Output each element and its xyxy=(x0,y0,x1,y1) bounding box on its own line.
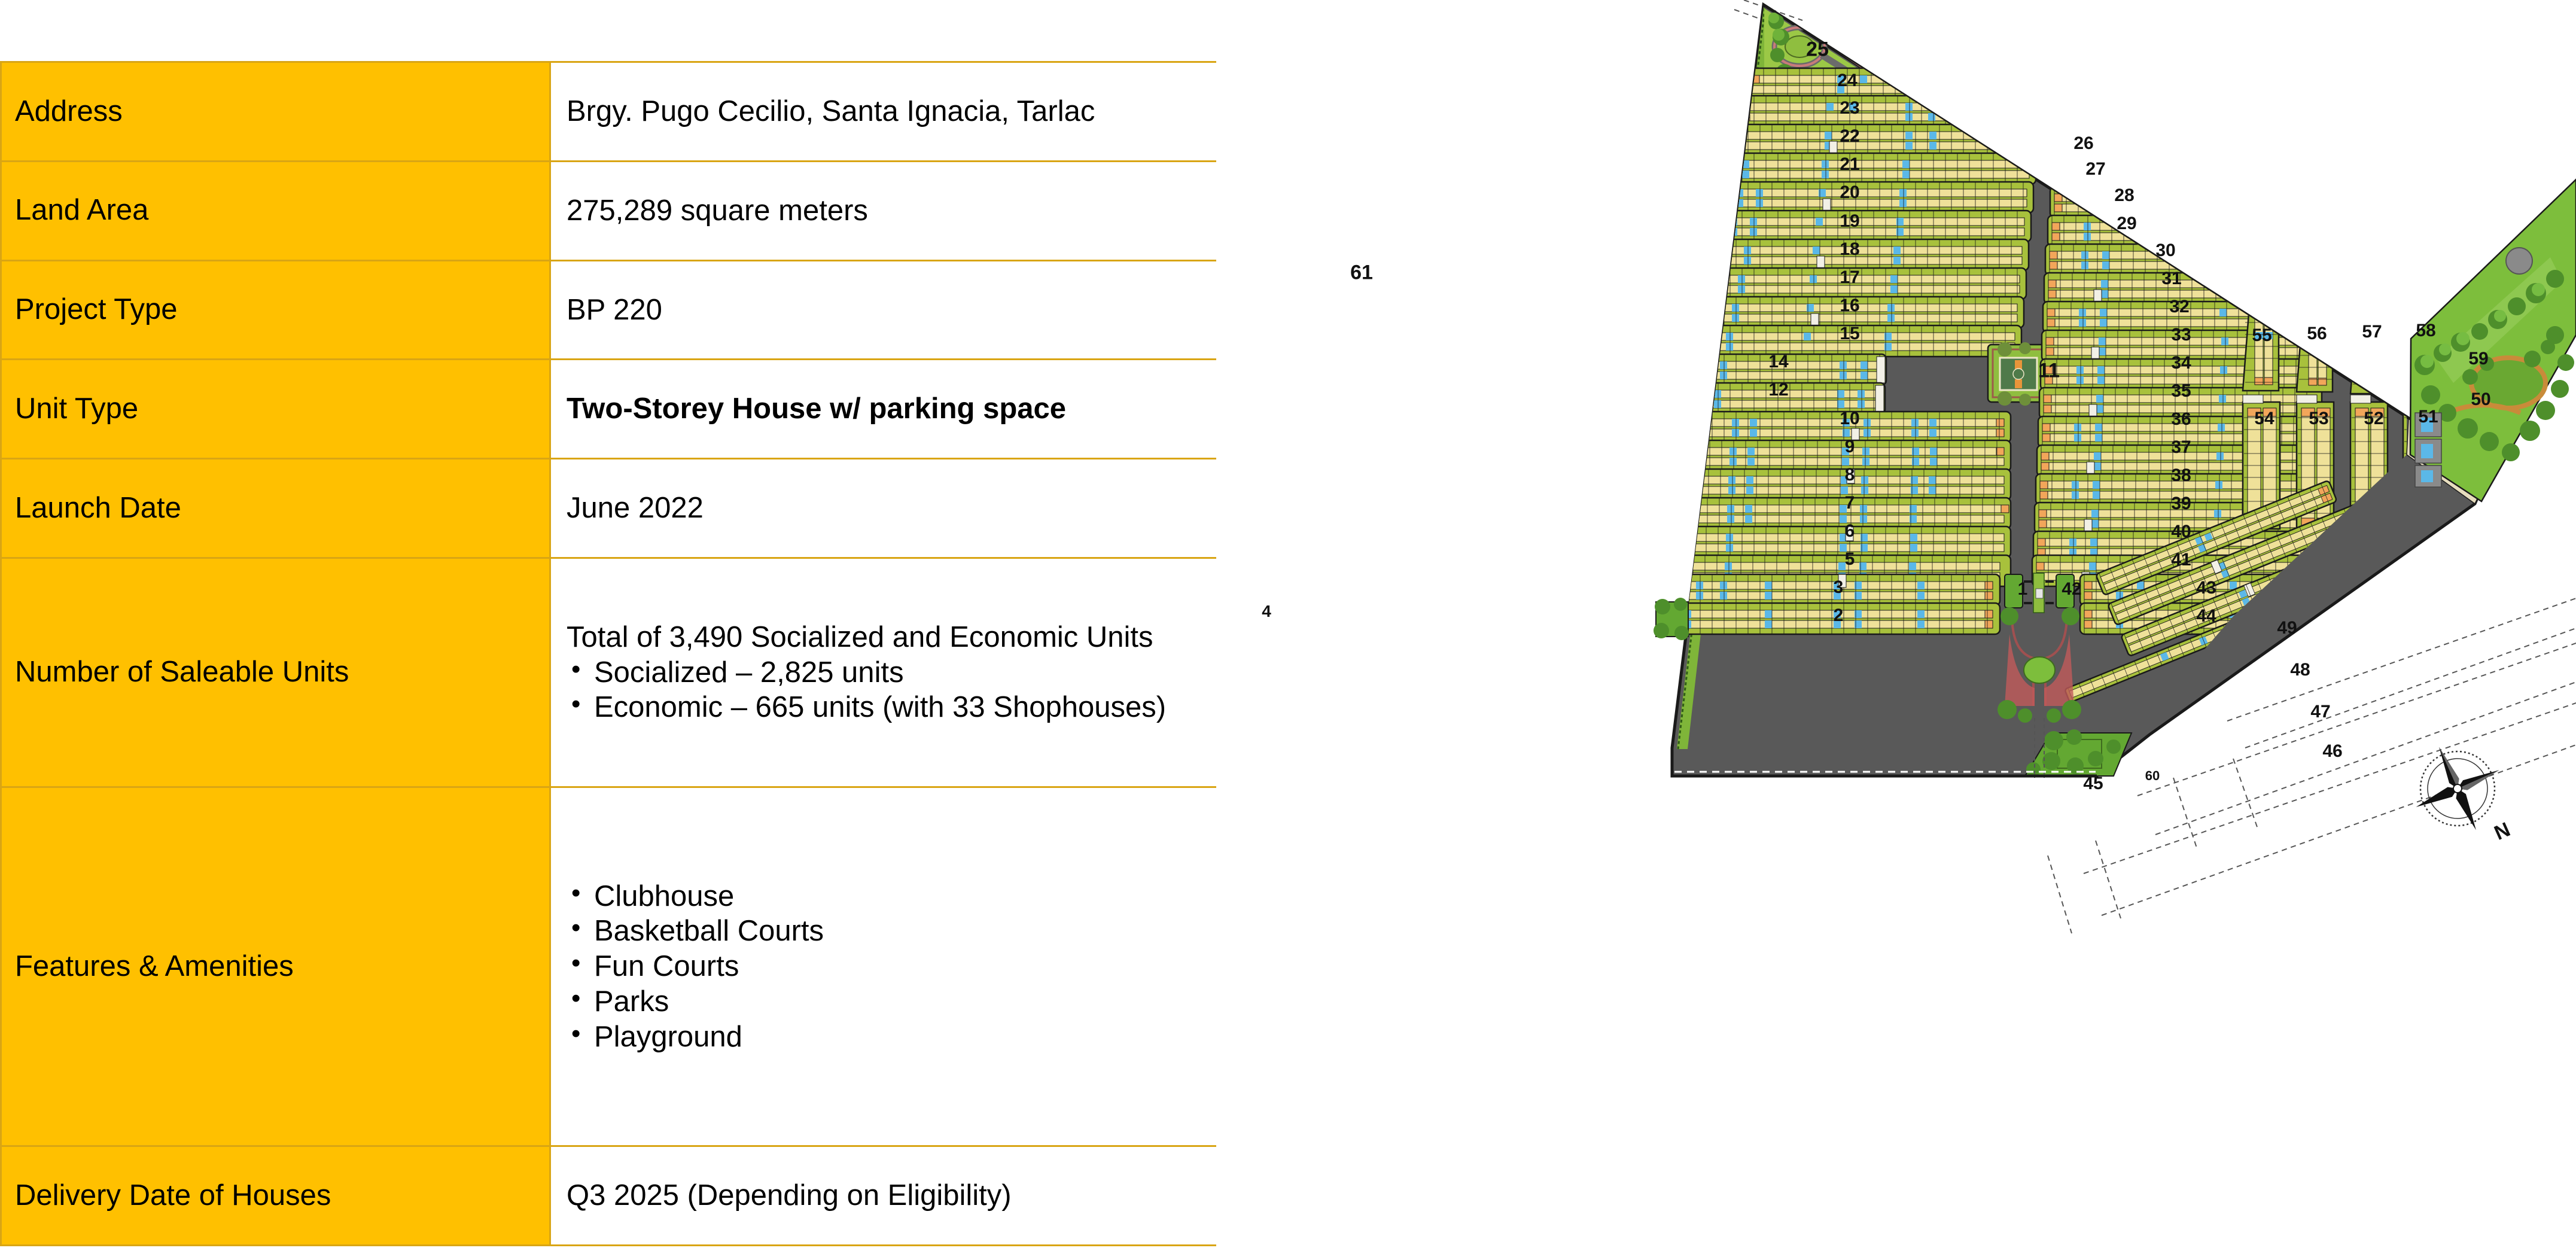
list-item: Playground xyxy=(567,1019,1216,1055)
amenities-list: Clubhouse Basketball Courts Fun Courts P… xyxy=(567,879,1216,1055)
spec-value-launch-date: June 2022 xyxy=(550,459,1217,558)
list-item: Socialized – 2,825 units xyxy=(567,655,1216,690)
east-park xyxy=(2407,179,2576,504)
spec-value-saleable-units: Total of 3,490 Socialized and Economic U… xyxy=(550,558,1217,787)
spec-label-features-amenities: Features & Amenities xyxy=(1,787,550,1146)
table-row: Number of Saleable Units Total of 3,490 … xyxy=(1,558,1217,787)
saleable-units-lead: Total of 3,490 Socialized and Economic U… xyxy=(567,620,1216,655)
table-row: Launch Date June 2022 xyxy=(1,459,1217,558)
compass-rose xyxy=(2398,729,2518,849)
spec-label-unit-type: Unit Type xyxy=(1,360,550,459)
table-row: Features & Amenities Clubhouse Basketbal… xyxy=(1,787,1217,1146)
table-row: Land Area 275,289 square meters xyxy=(1,161,1217,260)
list-item: Parks xyxy=(567,984,1216,1019)
spec-label-saleable-units: Number of Saleable Units xyxy=(1,558,550,787)
list-item: Fun Courts xyxy=(567,949,1216,984)
spec-value-project-type: BP 220 xyxy=(550,260,1217,360)
spec-label-address: Address xyxy=(1,62,550,162)
list-item: Economic – 665 units (with 33 Shophouses… xyxy=(567,690,1216,725)
spec-value-delivery-date: Q3 2025 (Depending on Eligibility) xyxy=(550,1146,1217,1246)
spec-value-land-area: 275,289 square meters xyxy=(550,161,1217,260)
slide-root: Address Brgy. Pugo Cecilio, Santa Ignaci… xyxy=(0,0,2576,1260)
table-row: Project Type BP 220 xyxy=(1,260,1217,360)
list-item: Clubhouse xyxy=(567,879,1216,914)
project-spec-table: Address Brgy. Pugo Cecilio, Santa Ignaci… xyxy=(0,61,1218,1246)
spec-table-body: Address Brgy. Pugo Cecilio, Santa Ignaci… xyxy=(1,62,1217,1246)
spec-label-launch-date: Launch Date xyxy=(1,459,550,558)
table-row: Unit Type Two-Storey House w/ parking sp… xyxy=(1,360,1217,459)
green-strip-block-4 xyxy=(1654,598,1689,640)
site-development-plan: N 25242322212019181716151412109876532142… xyxy=(1216,0,2576,1260)
table-row: Delivery Date of Houses Q3 2025 (Dependi… xyxy=(1,1146,1217,1246)
left-block-rows-upper xyxy=(1660,68,2037,634)
spec-label-project-type: Project Type xyxy=(1,260,550,360)
site-plan-svg xyxy=(1216,0,2576,1260)
spec-label-land-area: Land Area xyxy=(1,161,550,260)
list-item: Basketball Courts xyxy=(567,914,1216,949)
spec-value-unit-type: Two-Storey House w/ parking space xyxy=(550,360,1217,459)
table-row: Address Brgy. Pugo Cecilio, Santa Ignaci… xyxy=(1,62,1217,162)
spec-value-address: Brgy. Pugo Cecilio, Santa Ignacia, Tarla… xyxy=(550,62,1217,162)
spec-value-features-amenities: Clubhouse Basketball Courts Fun Courts P… xyxy=(550,787,1217,1146)
spec-label-delivery-date: Delivery Date of Houses xyxy=(1,1146,550,1246)
saleable-units-list: Socialized – 2,825 units Economic – 665 … xyxy=(567,655,1216,726)
